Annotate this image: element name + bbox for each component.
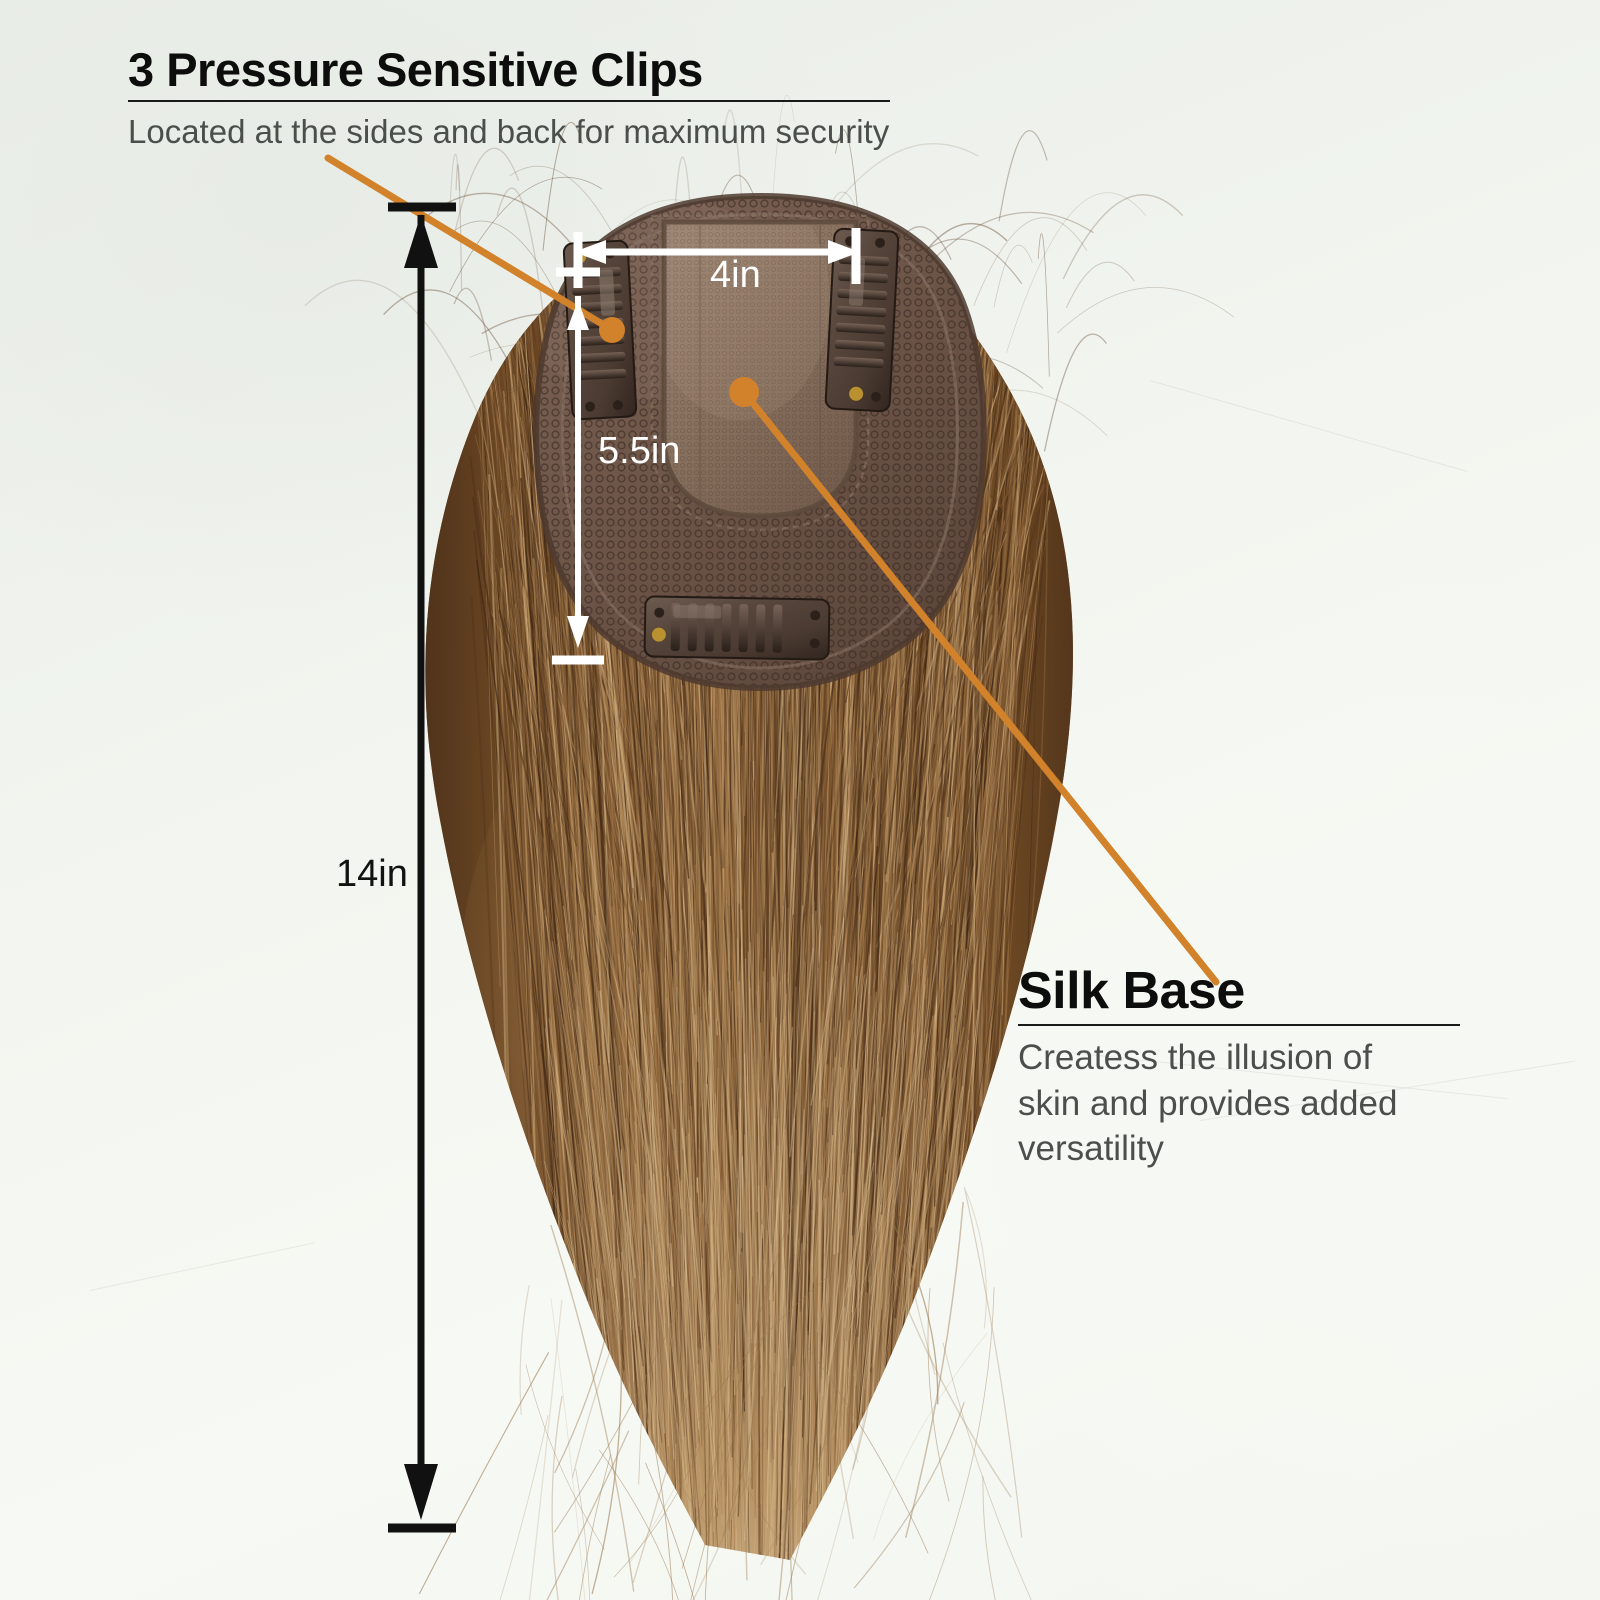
dimension-label-14in: 14in [336, 855, 408, 893]
callout-clips-title: 3 Pressure Sensitive Clips [128, 46, 890, 93]
callout-clips: 3 Pressure Sensitive Clips Located at th… [128, 46, 890, 154]
dimension-width-4in [556, 228, 860, 288]
dimension-depth-5-5in [552, 296, 604, 660]
callout-silk-base-title: Silk Base [1018, 965, 1460, 1017]
callout-silk-base-body: Createss the illusion of skin and provid… [1018, 1035, 1418, 1172]
callout-clips-body: Located at the sides and back for maximu… [128, 111, 890, 154]
callout-silk-base: Silk Base Createss the illusion of skin … [1018, 965, 1460, 1172]
infographic-canvas: 4in 5.5in 14in 3 Pressure Sensitive Clip… [0, 0, 1600, 1600]
callout-clips-divider [128, 100, 890, 102]
dimension-label-5-5in: 5.5in [598, 432, 680, 470]
leader-line-silk [729, 377, 1216, 982]
callout-silk-base-divider [1018, 1024, 1460, 1026]
annotation-overlay [0, 0, 1600, 1600]
dimension-label-4in: 4in [710, 256, 761, 294]
